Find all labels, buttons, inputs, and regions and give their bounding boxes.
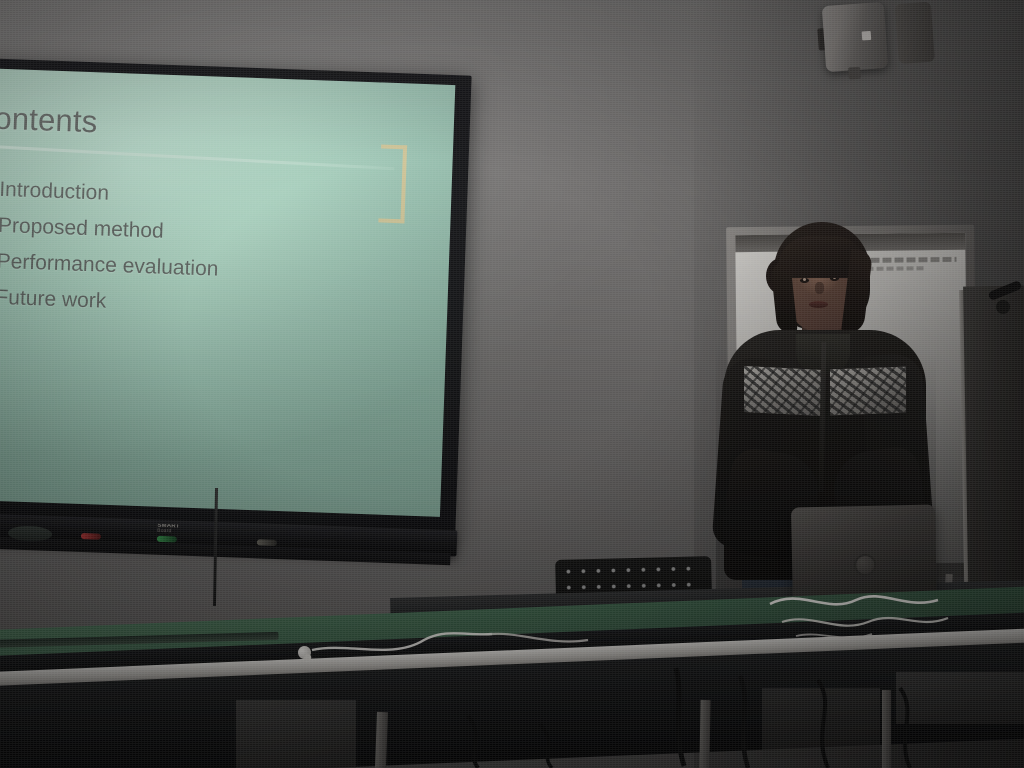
photo-vignette <box>0 0 1024 768</box>
presentation-room-scene: Contents Introduction Proposed method Pe… <box>0 0 1024 768</box>
